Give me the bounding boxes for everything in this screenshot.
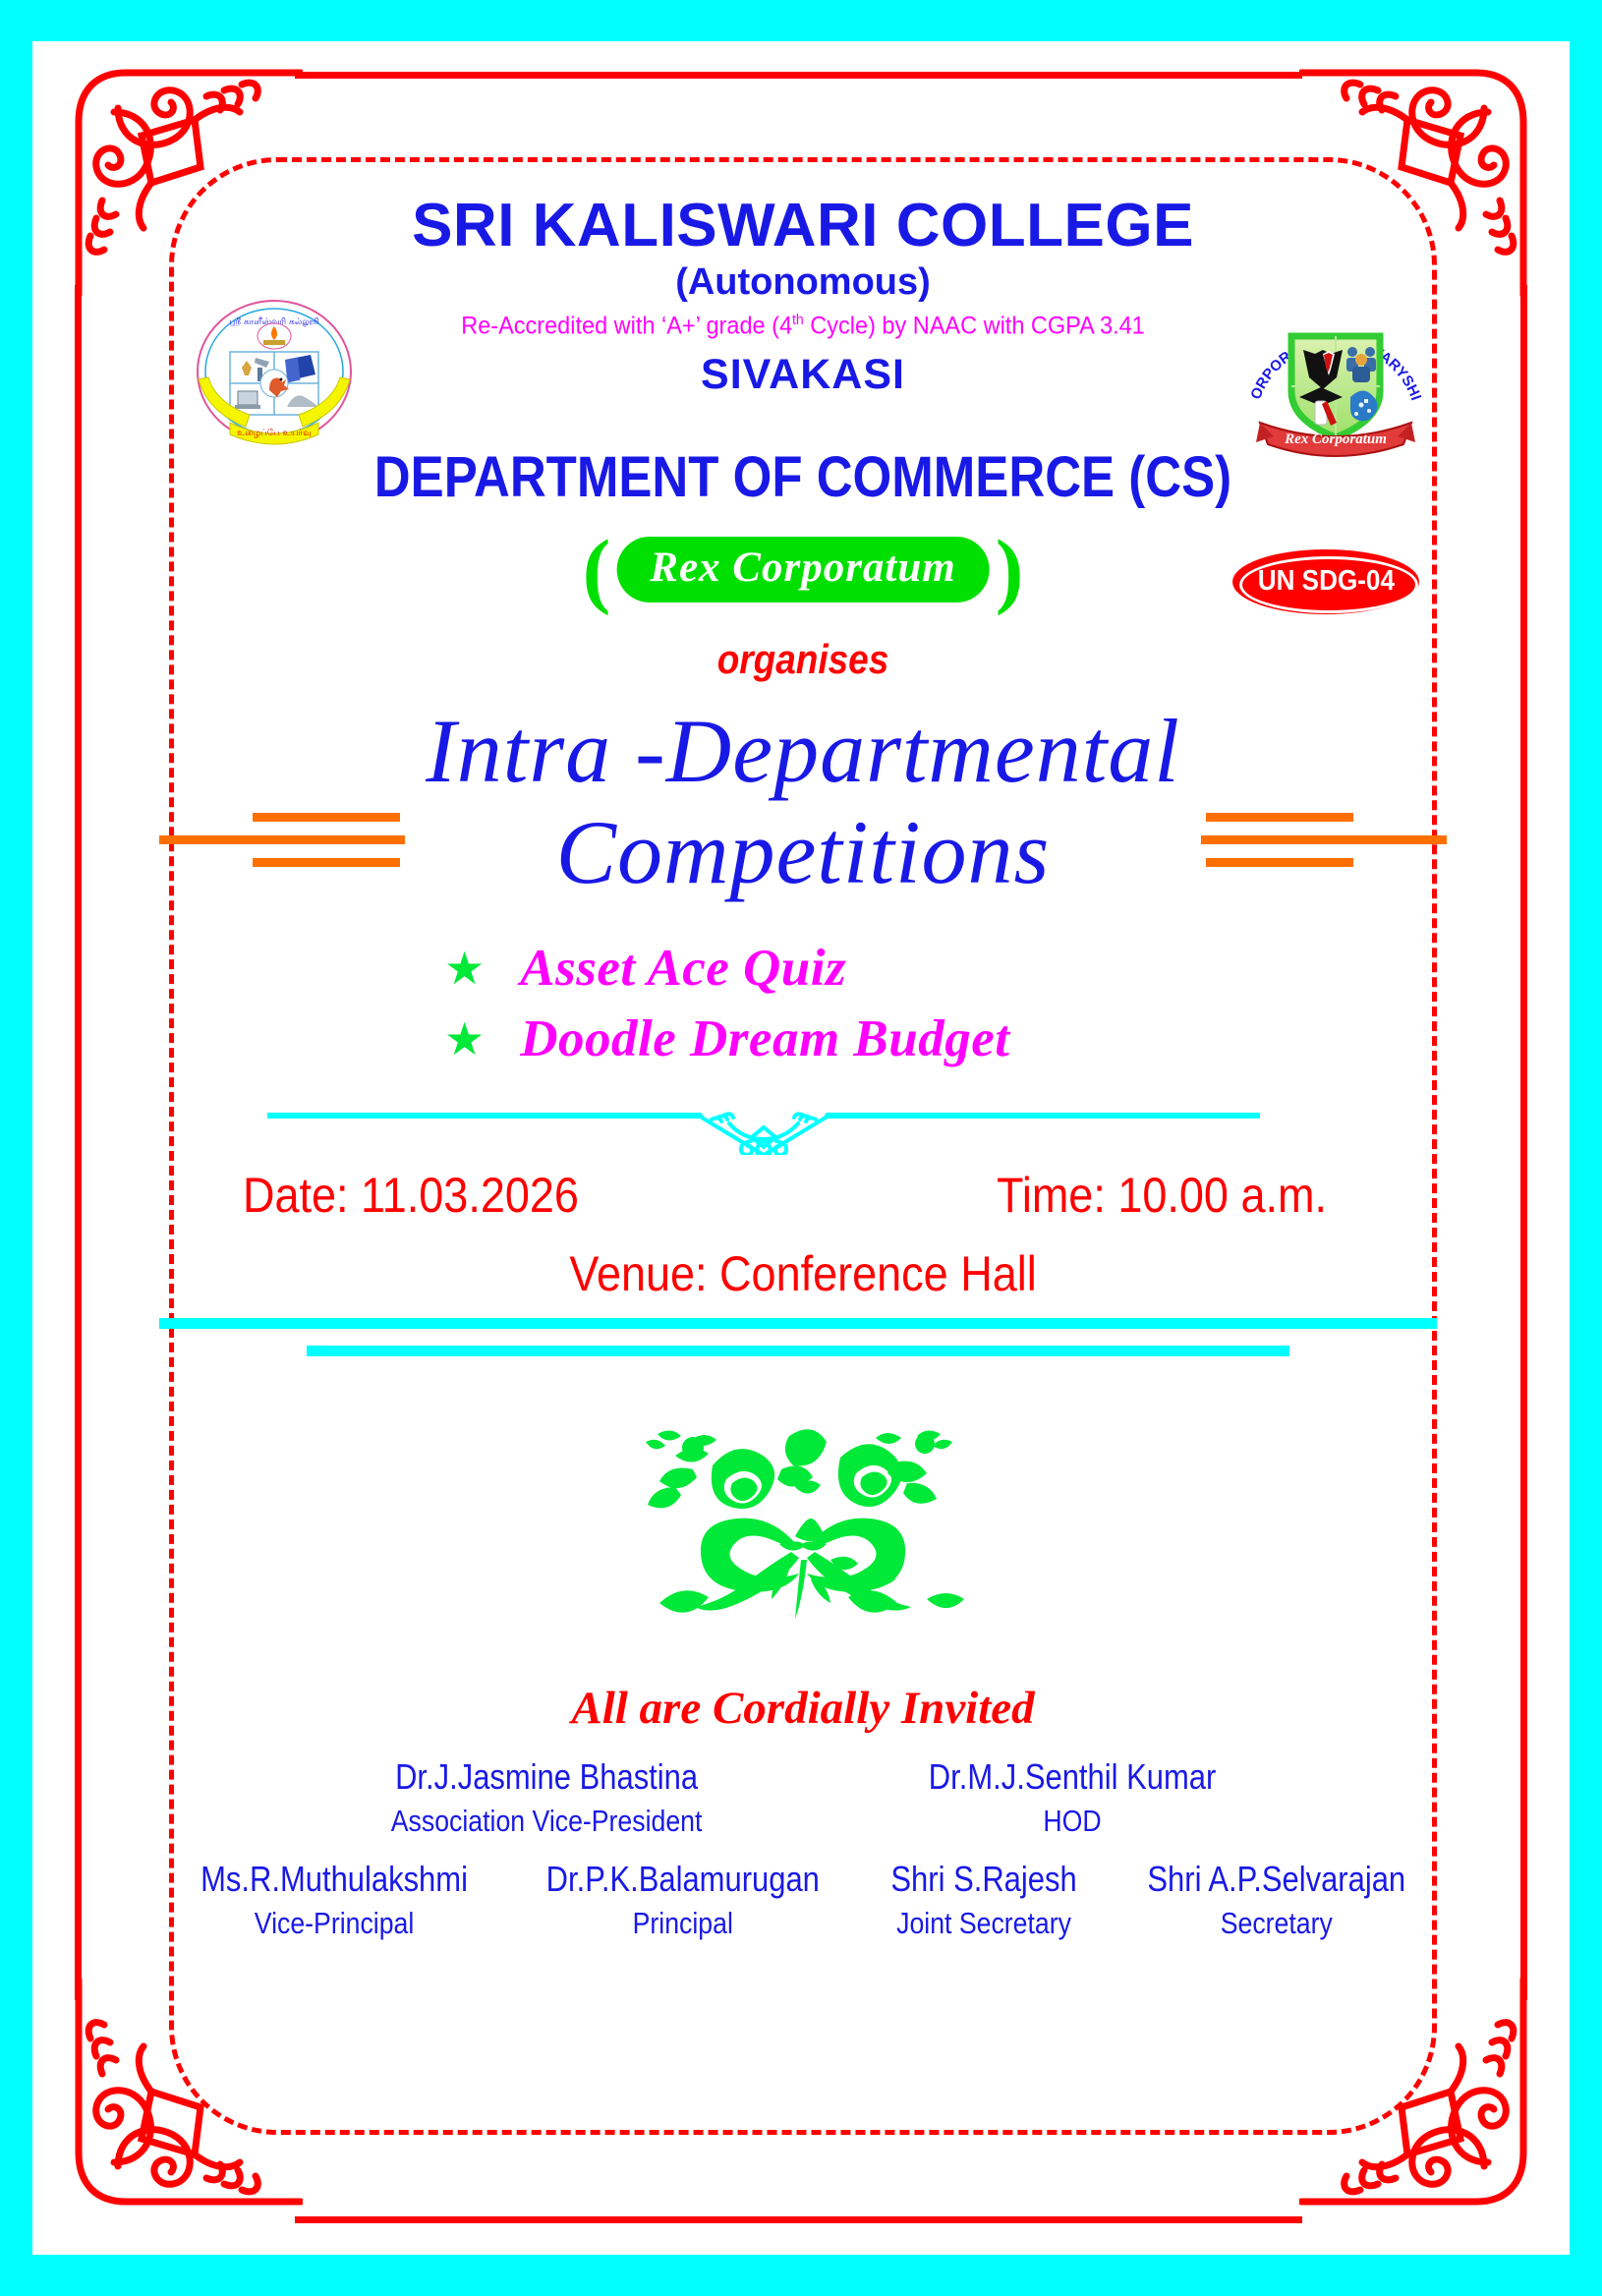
signatory-name: Ms.R.Muthulakshmi xyxy=(200,1859,468,1900)
signatory-name: Dr.M.J.Senthil Kumar xyxy=(929,1756,1216,1798)
event-venue: Venue: Conference Hall xyxy=(569,1245,1036,1302)
signatories-upper-row: Dr.J.Jasmine Bhastina Association Vice-P… xyxy=(169,1756,1437,1839)
border-rail-bottom xyxy=(295,2216,1302,2223)
list-item: ★ Asset Ace Quiz xyxy=(444,939,1437,998)
signatory-role: Principal xyxy=(546,1906,820,1941)
event-title-line-1: Intra -Departmental xyxy=(169,701,1437,802)
border-rail-left xyxy=(75,285,82,2000)
signatory-name: Dr.J.Jasmine Bhastina xyxy=(391,1756,703,1798)
accreditation-ordinal: th xyxy=(792,312,804,328)
border-rail-top xyxy=(295,72,1302,79)
un-sdg-badge-label: UN SDG-04 xyxy=(1257,565,1394,598)
orange-deco-right-icon xyxy=(1201,805,1447,876)
event-time: Time: 10.00 a.m. xyxy=(997,1167,1327,1224)
signatory: Dr.M.J.Senthil Kumar HOD xyxy=(905,1756,1239,1839)
signatory-name: Shri S.Rajesh xyxy=(891,1859,1077,1900)
event-name: Doodle Dream Budget xyxy=(520,1009,1009,1068)
signatory-role: Vice-Principal xyxy=(200,1906,468,1941)
event-details-block: Date: 11.03.2026 Time: 10.00 a.m. Venue:… xyxy=(169,1102,1437,1336)
right-paren-icon: ) xyxy=(996,532,1024,607)
event-list: ★ Asset Ace Quiz ★ Doodle Dream Budget xyxy=(169,939,1437,1068)
event-date: Date: 11.03.2026 xyxy=(243,1167,579,1224)
cyan-bar-lower xyxy=(307,1346,1289,1356)
signatory-role: Association Vice-President xyxy=(391,1804,703,1839)
accreditation-post: Cycle) by NAAC with CGPA 3.41 xyxy=(804,313,1145,340)
association-badge: ( Rex Corporatum ) xyxy=(583,532,1024,607)
event-name: Asset Ace Quiz xyxy=(520,939,846,998)
header-block: ஸ்ரீ காளீஸ்வரி கல்லூரி xyxy=(169,195,1437,399)
signatory-role: Joint Secretary xyxy=(891,1906,1077,1941)
signatories-lower-row: Ms.R.Muthulakshmi Vice-Principal Dr.P.K.… xyxy=(169,1859,1437,1941)
accreditation-pre: Re-Accredited with ‘A+’ grade (4 xyxy=(461,313,792,340)
invitation-text: All are Cordially Invited xyxy=(169,1682,1437,1735)
orange-deco-left-icon xyxy=(159,805,405,876)
department-name: DEPARTMENT OF COMMERCE (CS) xyxy=(245,444,1360,510)
list-item: ★ Doodle Dream Budget xyxy=(444,1009,1437,1068)
signatory: Shri A.P.Selvarajan Secretary xyxy=(1126,1859,1427,1941)
signatory: Shri S.Rajesh Joint Secretary xyxy=(876,1859,1092,1941)
cyan-flourish-divider-icon xyxy=(267,1112,1260,1155)
star-bullet-icon: ★ xyxy=(444,946,485,991)
signatory-name: Shri A.P.Selvarajan xyxy=(1148,1859,1406,1900)
association-row: ( Rex Corporatum ) UN SDG-04 xyxy=(169,524,1437,618)
border-rail-right xyxy=(1520,285,1527,2000)
signatory-role: HOD xyxy=(929,1804,1216,1839)
svg-text:உழைப்பே உயர்வு: உழைப்பே உயர்வு xyxy=(237,429,312,438)
college-name: SRI KALISWARI COLLEGE xyxy=(169,195,1437,258)
organises-label: organises xyxy=(245,636,1360,683)
accreditation-text: Re-Accredited with ‘A+’ grade (4th Cycle… xyxy=(207,312,1400,340)
left-paren-icon: ( xyxy=(583,532,611,607)
signatory: Dr.J.Jasmine Bhastina Association Vice-P… xyxy=(366,1756,727,1839)
cyan-bar-upper xyxy=(159,1318,1437,1329)
date-time-row: Date: 11.03.2026 Time: 10.00 a.m. xyxy=(169,1167,1437,1224)
venue-row: Venue: Conference Hall xyxy=(169,1245,1437,1302)
signatory-role: Secretary xyxy=(1148,1906,1406,1941)
association-name: Rex Corporatum xyxy=(616,537,989,603)
star-bullet-icon: ★ xyxy=(444,1016,485,1062)
signatory: Ms.R.Muthulakshmi Vice-Principal xyxy=(179,1859,489,1941)
poster-content: ஸ்ரீ காளீஸ்வரி கல்லூரி xyxy=(169,157,1437,2135)
signatory-name: Dr.P.K.Balamurugan xyxy=(546,1859,820,1900)
floral-bow-ornament-icon xyxy=(606,1410,1000,1656)
event-title-block: Intra -Departmental Competitions xyxy=(169,701,1437,903)
signatory: Dr.P.K.Balamurugan Principal xyxy=(524,1859,842,1941)
un-sdg-badge: UN SDG-04 xyxy=(1232,549,1419,614)
